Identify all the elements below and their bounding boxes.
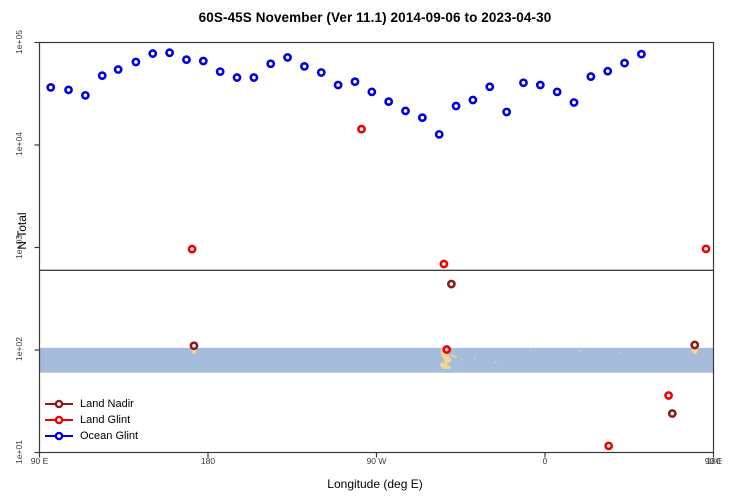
series-ocean-glint [48,50,645,138]
data-point[interactable] [504,109,510,115]
y-tick-label: 1e+03 [14,234,24,260]
x-axis-label: Longitude (deg E) [0,477,750,491]
data-point[interactable] [217,69,223,75]
legend-label: Land Nadir [80,396,134,412]
data-point[interactable] [588,73,594,79]
data-point[interactable] [234,74,240,80]
data-point[interactable] [191,343,197,349]
y-tick-label: 1e+05 [14,29,24,55]
data-point[interactable] [183,57,189,63]
data-point[interactable] [606,443,612,449]
data-point[interactable] [358,126,364,132]
chart-legend: Land NadirLand GlintOcean Glint [44,396,138,444]
data-point[interactable] [703,246,709,252]
legend-label: Land Glint [80,412,130,428]
ocean-band [40,348,714,373]
data-point[interactable] [621,60,627,66]
x-tick-label: 90 E [16,456,64,466]
data-point[interactable] [386,99,392,105]
x-tick-label: 180 [690,456,738,466]
x-tick-label: 0 [521,456,569,466]
data-point[interactable] [301,63,307,69]
axis-frame [40,43,714,453]
data-point[interactable] [441,261,447,267]
data-point[interactable] [436,131,442,137]
data-point[interactable] [99,73,105,79]
x-tick-label: 180 [184,456,232,466]
data-point[interactable] [189,246,195,252]
legend-marker-icon [44,429,74,443]
legend-marker-icon [44,397,74,411]
data-point[interactable] [167,50,173,56]
chart-title: 60S-45S November (Ver 11.1) 2014-09-06 t… [0,10,750,25]
data-point[interactable] [284,54,290,60]
data-point[interactable] [352,79,358,85]
data-point[interactable] [554,89,560,95]
data-point[interactable] [605,68,611,74]
data-point[interactable] [251,74,257,80]
data-point[interactable] [48,84,54,90]
x-tick-label: 90 W [353,456,401,466]
data-point[interactable] [453,103,459,109]
y-tick-label: 1e+02 [14,336,24,362]
data-point[interactable] [470,97,476,103]
data-point[interactable] [520,80,526,86]
data-point[interactable] [115,66,121,72]
y-axis-label: N Total [15,171,29,291]
data-point[interactable] [448,281,454,287]
data-point[interactable] [318,69,324,75]
data-point[interactable] [537,82,543,88]
data-point[interactable] [402,108,408,114]
data-point[interactable] [571,99,577,105]
data-point[interactable] [82,92,88,98]
data-point[interactable] [150,50,156,56]
legend-item-ocean-glint[interactable]: Ocean Glint [44,428,138,444]
data-point[interactable] [669,410,675,416]
data-point[interactable] [419,115,425,121]
legend-label: Ocean Glint [80,428,138,444]
data-point[interactable] [487,84,493,90]
data-point[interactable] [369,89,375,95]
chart-figure: 60S-45S November (Ver 11.1) 2014-09-06 t… [0,0,750,500]
data-point[interactable] [133,59,139,65]
data-point[interactable] [335,82,341,88]
data-point[interactable] [692,342,698,348]
legend-item-land-glint[interactable]: Land Glint [44,412,138,428]
data-point[interactable] [665,392,671,398]
legend-marker-icon [44,413,74,427]
data-point[interactable] [65,87,71,93]
y-tick-label: 1e+04 [14,131,24,157]
legend-item-land-nadir[interactable]: Land Nadir [44,396,138,412]
data-point[interactable] [638,51,644,57]
data-point[interactable] [268,61,274,67]
data-point[interactable] [200,58,206,64]
